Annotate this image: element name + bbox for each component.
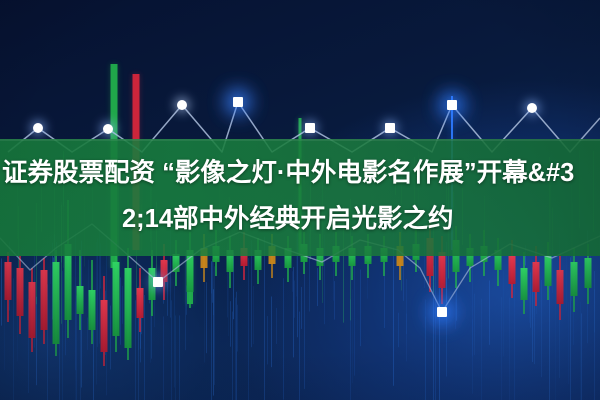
band-top-edge xyxy=(0,139,600,141)
headline-text: 证券股票配资 “影像之灯·中外电影名作展”开幕&#3 2;14部中外经典开启光影… xyxy=(0,150,600,242)
headline-line-2: 2;14部中外经典开启光影之约 xyxy=(2,196,598,242)
banner-image: 证券股票配资 “影像之灯·中外电影名作展”开幕&#3 2;14部中外经典开启光影… xyxy=(0,0,600,400)
headline-line-1: 证券股票配资 “影像之灯·中外电影名作展”开幕&#3 xyxy=(2,159,574,187)
